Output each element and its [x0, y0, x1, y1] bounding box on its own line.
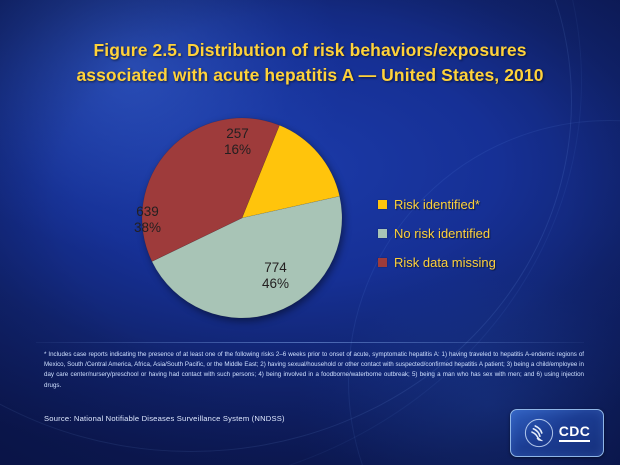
- pie-label-risk-data-missing: 639 38%: [134, 204, 161, 236]
- pie-label-risk-identified-percent: 16%: [224, 142, 251, 158]
- cdc-wordmark: CDC: [559, 424, 591, 442]
- pie-label-no-risk-identified-percent: 46%: [262, 276, 289, 292]
- pie-chart: 257 16% 774 46% 639 38%: [128, 112, 356, 324]
- slide-title-line-1: Figure 2.5. Distribution of risk behavio…: [93, 40, 526, 60]
- legend-label-no-risk-identified: No risk identified: [394, 226, 490, 241]
- slide-title-line-2: associated with acute hepatitis A — Unit…: [30, 63, 590, 88]
- footer-divider: [36, 342, 584, 343]
- legend-swatch-icon-risk-data-missing: [378, 258, 387, 267]
- hhs-mark-icon: [524, 418, 554, 448]
- legend-item-no-risk-identified: No risk identified: [378, 225, 578, 241]
- legend-item-risk-data-missing: Risk data missing: [378, 254, 578, 270]
- legend-swatch-icon-no-risk-identified: [378, 229, 387, 238]
- pie-label-risk-identified-value: 257: [224, 126, 251, 142]
- legend-item-risk-identified: Risk identified*: [378, 196, 578, 212]
- pie-label-no-risk-identified-value: 774: [262, 260, 289, 276]
- slide-title: Figure 2.5. Distribution of risk behavio…: [30, 38, 590, 88]
- legend-label-risk-identified: Risk identified*: [394, 197, 480, 212]
- footnote-text: * Includes case reports indicating the p…: [44, 350, 584, 391]
- source-text: Source: National Notifiable Diseases Sur…: [44, 414, 285, 423]
- pie-label-risk-identified: 257 16%: [224, 126, 251, 158]
- pie-label-no-risk-identified: 774 46%: [262, 260, 289, 292]
- chart-legend: Risk identified* No risk identified Risk…: [378, 196, 578, 283]
- slide-canvas: Figure 2.5. Distribution of risk behavio…: [0, 0, 620, 465]
- legend-swatch-icon-risk-identified: [378, 200, 387, 209]
- legend-label-risk-data-missing: Risk data missing: [394, 255, 496, 270]
- pie-label-risk-data-missing-value: 639: [134, 204, 161, 220]
- pie-label-risk-data-missing-percent: 38%: [134, 220, 161, 236]
- cdc-logo: CDC: [510, 409, 604, 457]
